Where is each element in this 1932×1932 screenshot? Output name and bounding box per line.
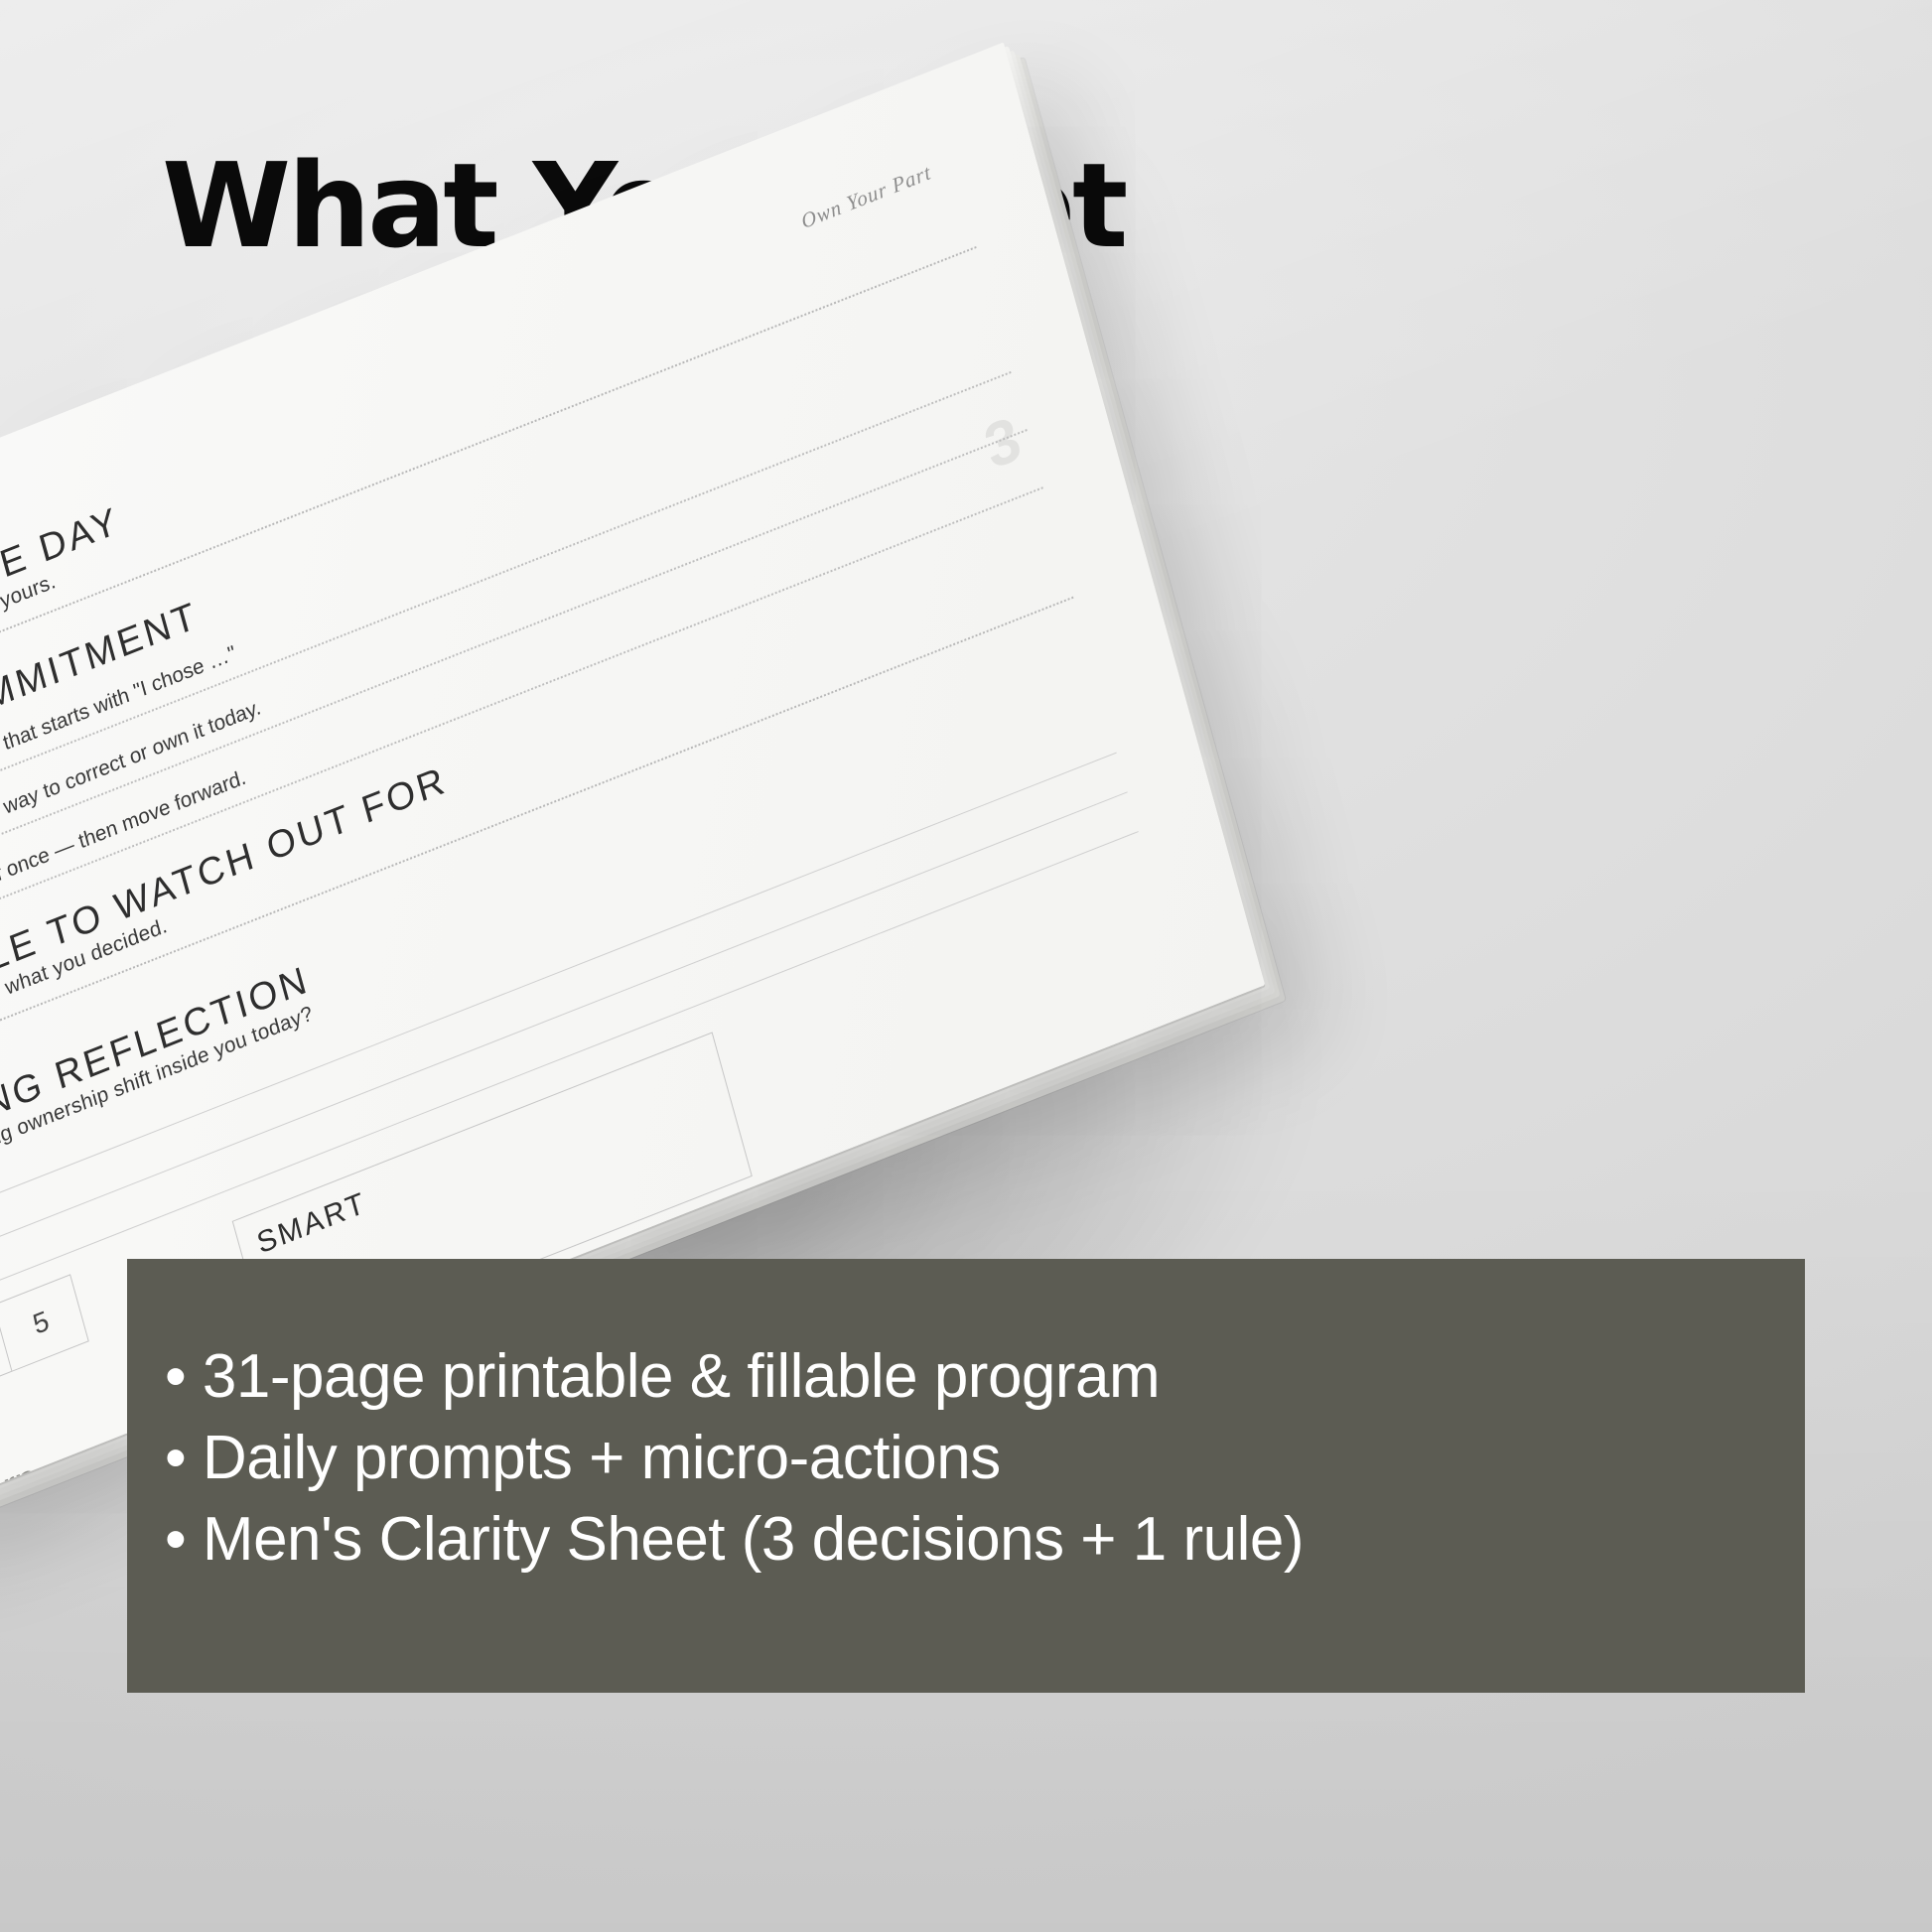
offer-bullet: • Daily prompts + micro-actions <box>127 1418 1805 1499</box>
offer-bullet: • 31-page printable & fillable program <box>127 1336 1805 1418</box>
rating-cell[interactable]: 5 <box>0 1274 89 1372</box>
offer-panel: • 31-page printable & fillable program •… <box>127 1259 1805 1693</box>
offer-bullet: • Men's Clarity Sheet (3 decisions + 1 r… <box>127 1499 1805 1581</box>
